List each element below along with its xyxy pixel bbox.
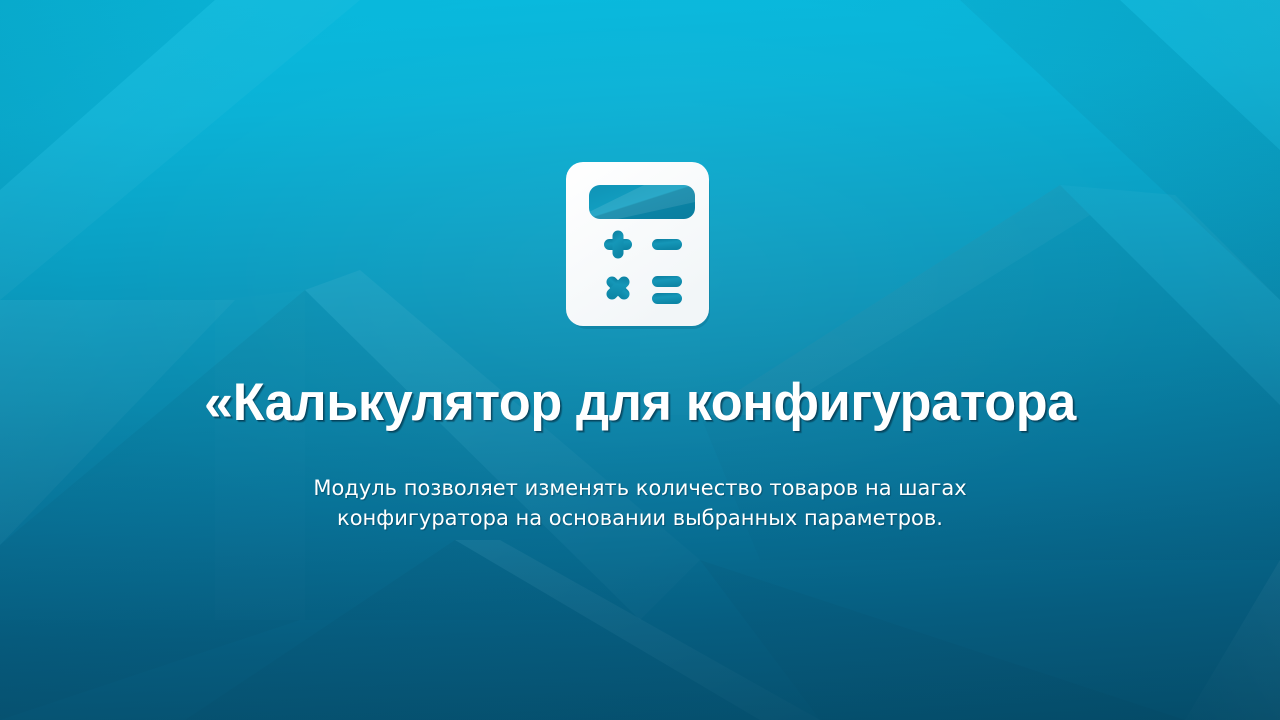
slide: «Калькулятор для конфигуратора Модуль по… bbox=[0, 0, 1280, 720]
subtitle-line-1: Модуль позволяет изменять количество тов… bbox=[260, 473, 1020, 503]
slide-content: «Калькулятор для конфигуратора Модуль по… bbox=[0, 0, 1280, 720]
subtitle-line-2: конфигуратора на основании выбранных пар… bbox=[260, 503, 1020, 533]
page-title: «Калькулятор для конфигуратора bbox=[10, 373, 1271, 433]
page-subtitle: Модуль позволяет изменять количество тов… bbox=[260, 473, 1020, 533]
calculator-icon bbox=[566, 162, 714, 331]
